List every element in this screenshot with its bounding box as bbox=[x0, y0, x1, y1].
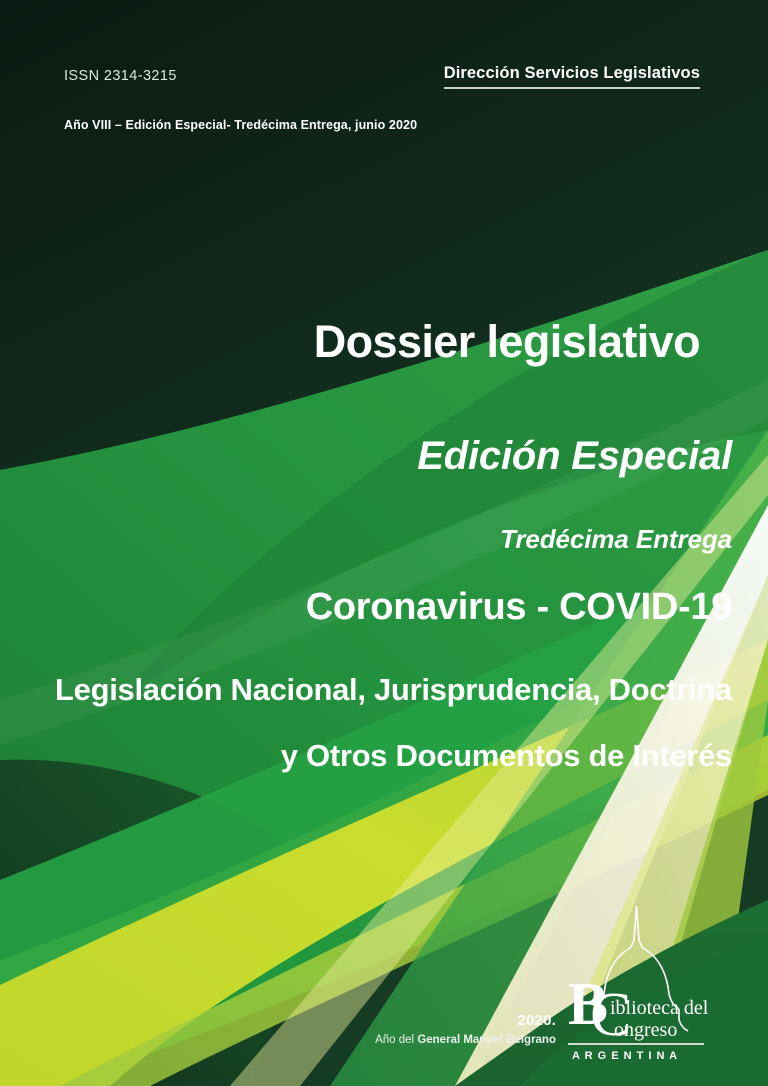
year-value: 2020. bbox=[375, 1012, 556, 1034]
subtitle-edition: Edición Especial bbox=[417, 434, 732, 479]
logo-word-bottom: ongreso bbox=[614, 1019, 677, 1041]
year-caption-prefix: Año del bbox=[375, 1034, 417, 1046]
logo-country-label: A R G E N T I N A bbox=[572, 1050, 678, 1062]
year-caption: Año del General Manuel Belgrano bbox=[375, 1034, 556, 1046]
dossier-cover-page: ISSN 2314-3215 Año VIII – Edición Especi… bbox=[0, 0, 768, 1086]
year-block: 2020. Año del General Manuel Belgrano bbox=[375, 1012, 556, 1046]
year-caption-name: General Manuel Belgrano bbox=[417, 1034, 556, 1046]
logo-word-top: iblioteca del bbox=[610, 997, 709, 1019]
page-title: Dossier legislativo bbox=[314, 316, 700, 368]
biblioteca-congreso-logo: B C iblioteca del ongreso A R G E N T I … bbox=[562, 902, 712, 1062]
logo-divider bbox=[568, 1043, 704, 1045]
topic-title: Coronavirus - COVID-19 bbox=[306, 586, 732, 629]
department-label: Dirección Servicios Legislativos bbox=[444, 64, 700, 87]
edition-line-text: Año VIII – Edición Especial- Tredécima E… bbox=[64, 118, 417, 132]
scope-line-2: y Otros Documentos de Interés bbox=[281, 738, 732, 774]
department-block: Dirección Servicios Legislativos bbox=[444, 64, 700, 89]
subtitle-installment: Tredécima Entrega bbox=[500, 524, 732, 555]
scope-line-1: Legislación Nacional, Jurisprudencia, Do… bbox=[55, 672, 732, 708]
department-underline bbox=[444, 87, 700, 89]
cover-header: ISSN 2314-3215 Año VIII – Edición Especi… bbox=[0, 0, 768, 160]
issn-text: ISSN 2314-3215 bbox=[64, 68, 177, 84]
